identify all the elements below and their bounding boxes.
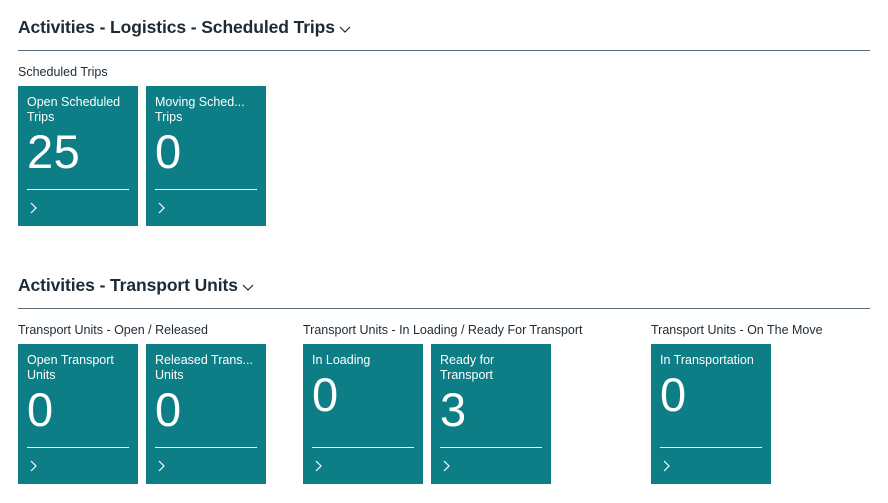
chevron-right-icon[interactable] [27,200,41,216]
tile-list: In Transportation 0 [651,344,823,484]
tile-in-transportation[interactable]: In Transportation 0 [651,344,771,484]
group-label: Scheduled Trips [18,65,266,79]
tile-list: Open Scheduled Trips 25 Moving Sched... … [18,86,266,226]
tile-moving-scheduled-trips[interactable]: Moving Sched... Trips 0 [146,86,266,226]
chevron-right-icon[interactable] [155,458,169,474]
tile-title: Released Trans... Units [155,353,257,383]
chevron-right-icon[interactable] [660,458,674,474]
tile-open-scheduled-trips[interactable]: Open Scheduled Trips 25 [18,86,138,226]
tile-divider [27,189,129,190]
chevron-right-icon[interactable] [27,458,41,474]
group-label: Transport Units - In Loading / Ready For… [303,323,583,337]
tile-value: 0 [27,385,129,435]
tile-divider [312,447,414,448]
tile-divider [660,447,762,448]
tile-title: Moving Sched... Trips [155,95,257,125]
tile-title: Open Transport Units [27,353,129,383]
tile-divider [27,447,129,448]
tile-title: In Loading [312,353,414,368]
tile-value: 0 [660,370,762,420]
chevron-right-icon[interactable] [440,458,454,474]
tile-title: In Transportation [660,353,762,368]
tile-in-loading[interactable]: In Loading 0 [303,344,423,484]
section-title: Activities - Logistics - Scheduled Trips [18,17,335,38]
tile-value: 0 [312,370,414,420]
tile-list: Open Transport Units 0 Released Trans...… [18,344,266,484]
tile-group-open-released: Transport Units - Open / Released Open T… [18,323,266,484]
tile-divider [155,189,257,190]
tile-list: In Loading 0 Ready for Transport 3 [303,344,583,484]
section-title: Activities - Transport Units [18,275,238,296]
tile-open-transport-units[interactable]: Open Transport Units 0 [18,344,138,484]
group-row: Scheduled Trips Open Scheduled Trips 25 … [0,65,888,245]
tile-value: 0 [155,127,257,177]
tile-title: Open Scheduled Trips [27,95,129,125]
section-header-transport-units[interactable]: Activities - Transport Units [0,270,888,300]
chevron-right-icon[interactable] [155,200,169,216]
group-label: Transport Units - On The Move [651,323,823,337]
tile-released-transport-units[interactable]: Released Trans... Units 0 [146,344,266,484]
chevron-down-icon[interactable] [338,22,352,36]
tile-value: 25 [27,127,129,177]
section-transport-units: Activities - Transport Units Transport U… [0,270,888,503]
section-scheduled-trips: Activities - Logistics - Scheduled Trips… [0,12,888,245]
group-label: Transport Units - Open / Released [18,323,266,337]
tile-divider [440,447,542,448]
tile-group-scheduled-trips: Scheduled Trips Open Scheduled Trips 25 … [18,65,266,226]
tile-title: Ready for Transport [440,353,542,383]
tile-divider [155,447,257,448]
section-divider [18,308,870,309]
tile-group-on-the-move: Transport Units - On The Move In Transpo… [651,323,823,484]
tile-value: 3 [440,385,542,435]
group-row: Transport Units - Open / Released Open T… [0,323,888,503]
chevron-right-icon[interactable] [312,458,326,474]
tile-value: 0 [155,385,257,435]
tile-ready-for-transport[interactable]: Ready for Transport 3 [431,344,551,484]
tile-group-in-loading-ready: Transport Units - In Loading / Ready For… [303,323,583,484]
section-divider [18,50,870,51]
chevron-down-icon[interactable] [241,280,255,294]
section-header-scheduled-trips[interactable]: Activities - Logistics - Scheduled Trips [0,12,888,42]
